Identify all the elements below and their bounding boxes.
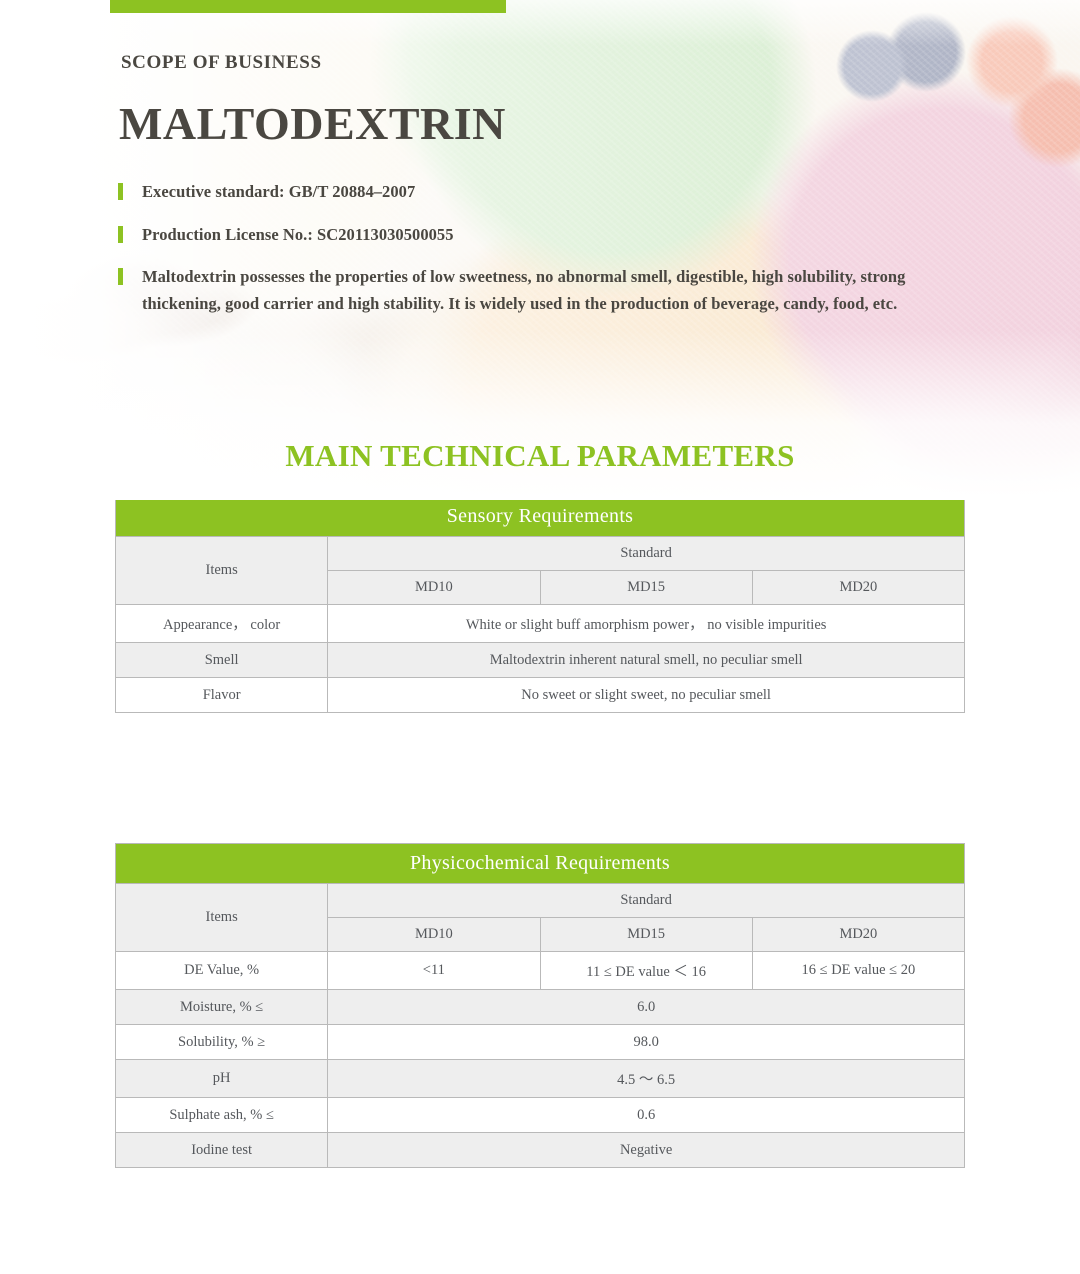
section-heading: MAIN TECHNICAL PARAMETERS	[0, 438, 1080, 474]
bullet-text: Production License No.: SC20113030500055	[142, 225, 454, 244]
physicochemical-requirements-section: Physicochemical Requirements Items Stand…	[115, 843, 965, 1168]
row-value: 0.6	[328, 1098, 965, 1133]
row-item-label: Sulphate ash, % ≤	[116, 1098, 328, 1133]
top-accent-bar	[110, 0, 506, 13]
list-item: Executive standard: GB/T 20884–2007	[118, 178, 968, 205]
list-item: Production License No.: SC20113030500055	[118, 221, 968, 248]
row-value: No sweet or slight sweet, no peculiar sm…	[328, 678, 965, 713]
eyebrow-label: SCOPE OF BUSINESS	[121, 52, 968, 74]
hero-banner: SCOPE OF BUSINESS MALTODEXTRIN Executive…	[0, 0, 1080, 500]
de-value-md10: <11	[328, 952, 540, 990]
bullet-marker-icon	[118, 183, 123, 200]
grade-header-md20: MD20	[752, 571, 964, 605]
table-title-row: Physicochemical Requirements	[116, 844, 965, 884]
table-row: Sulphate ash, % ≤ 0.6	[116, 1098, 965, 1133]
row-item-label: Solubility, % ≥	[116, 1025, 328, 1060]
list-item: Maltodextrin possesses the properties of…	[118, 263, 968, 318]
row-item-label: Smell	[116, 643, 328, 678]
bullet-text: Maltodextrin possesses the properties of…	[142, 267, 905, 313]
physicochemical-table-title: Physicochemical Requirements	[116, 844, 965, 884]
row-item-label: Iodine test	[116, 1133, 328, 1168]
sensory-table-title: Sensory Requirements	[116, 497, 965, 537]
page-bottom-padding	[0, 1168, 1080, 1190]
table-row: Smell Maltodextrin inherent natural smel…	[116, 643, 965, 678]
standard-header: Standard	[328, 537, 965, 571]
row-value: 98.0	[328, 1025, 965, 1060]
photo-bottom-fade	[0, 330, 1080, 500]
table-spacer	[0, 713, 1080, 843]
hero-bullet-list: Executive standard: GB/T 20884–2007 Prod…	[118, 178, 968, 318]
table-row: Appearance， color White or slight buff a…	[116, 605, 965, 643]
table-title-row: Sensory Requirements	[116, 497, 965, 537]
table-header-row: Items Standard	[116, 884, 965, 918]
page-title: MALTODEXTRIN	[119, 100, 968, 148]
sensory-requirements-table: Sensory Requirements Items Standard MD10…	[115, 496, 965, 713]
grade-header-md10: MD10	[328, 571, 540, 605]
row-item-label: Flavor	[116, 678, 328, 713]
table-row: Flavor No sweet or slight sweet, no pecu…	[116, 678, 965, 713]
grade-header-md10: MD10	[328, 918, 540, 952]
row-value: 4.5 ～ 6.5	[328, 1060, 965, 1098]
de-value-md20: 16 ≤ DE value ≤ 20	[752, 952, 964, 990]
physicochemical-requirements-table: Physicochemical Requirements Items Stand…	[115, 843, 965, 1168]
bullet-marker-icon	[118, 226, 123, 243]
items-header: Items	[116, 537, 328, 605]
table-row: pH 4.5 ～ 6.5	[116, 1060, 965, 1098]
items-header: Items	[116, 884, 328, 952]
row-item-label: DE Value, %	[116, 952, 328, 990]
sensory-requirements-section: Sensory Requirements Items Standard MD10…	[115, 496, 965, 713]
row-value: Maltodextrin inherent natural smell, no …	[328, 643, 965, 678]
row-item-label: pH	[116, 1060, 328, 1098]
table-row: Iodine test Negative	[116, 1133, 965, 1168]
table-row: DE Value, % <11 11 ≤ DE value ＜ 16 16 ≤ …	[116, 952, 965, 990]
row-value: Negative	[328, 1133, 965, 1168]
grade-header-md15: MD15	[540, 571, 752, 605]
standard-header: Standard	[328, 884, 965, 918]
de-value-md15: 11 ≤ DE value ＜ 16	[540, 952, 752, 990]
grade-header-md20: MD20	[752, 918, 964, 952]
row-value: White or slight buff amorphism power， no…	[328, 605, 965, 643]
table-row: Solubility, % ≥ 98.0	[116, 1025, 965, 1060]
table-row: Moisture, % ≤ 6.0	[116, 990, 965, 1025]
bullet-text: Executive standard: GB/T 20884–2007	[142, 182, 415, 201]
hero-content: SCOPE OF BUSINESS MALTODEXTRIN Executive…	[118, 52, 968, 318]
grade-header-md15: MD15	[540, 918, 752, 952]
table-header-row: Items Standard	[116, 537, 965, 571]
bullet-marker-icon	[118, 268, 123, 285]
row-value: 6.0	[328, 990, 965, 1025]
row-item-label: Appearance， color	[116, 605, 328, 643]
row-item-label: Moisture, % ≤	[116, 990, 328, 1025]
